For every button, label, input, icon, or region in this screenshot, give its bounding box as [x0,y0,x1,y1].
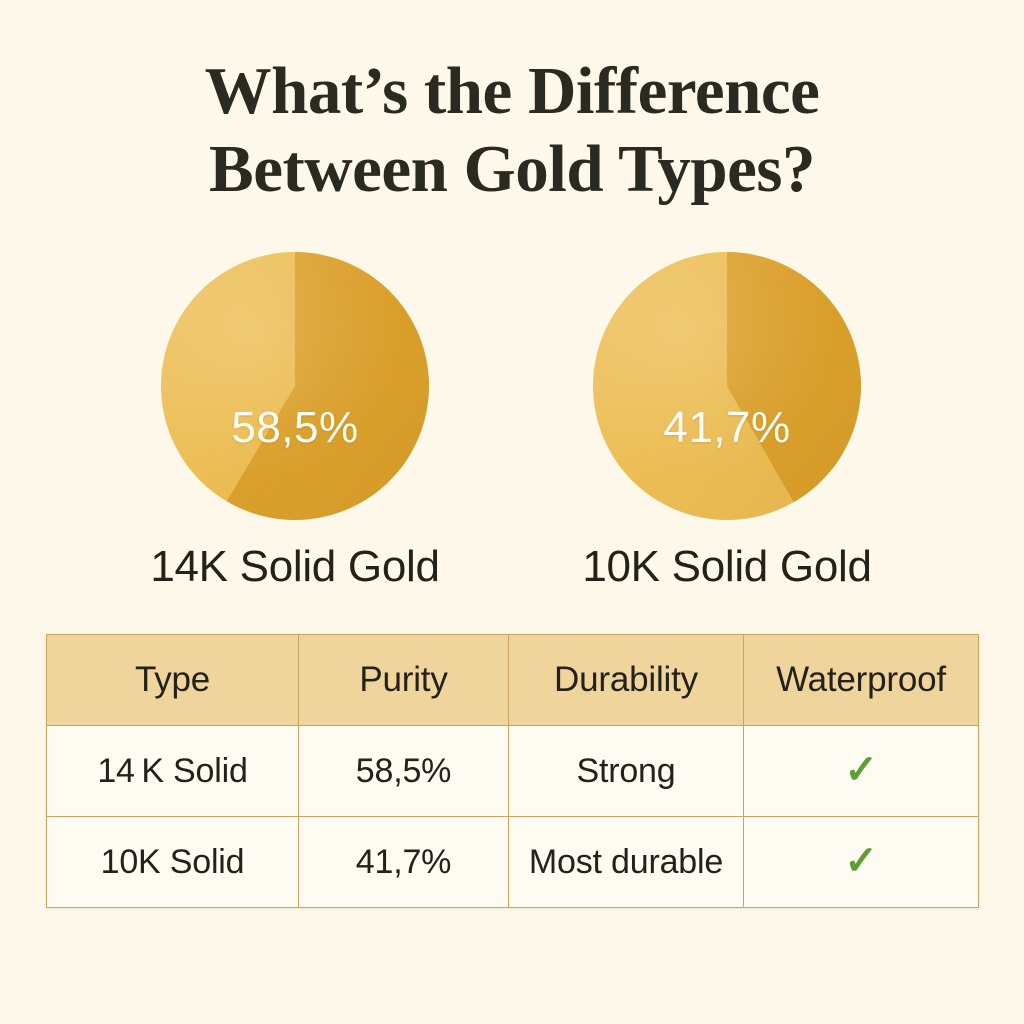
table-row: 10K Solid 41,7% Most durable ✓ [47,817,979,908]
cell-waterproof: ✓ [744,726,979,817]
page-title: What’s the Difference Between Gold Types… [0,52,1024,208]
column-header-purity: Purity [299,635,509,726]
table-header-row: Type Purity Durability Waterproof [47,635,979,726]
column-header-waterproof: Waterproof [744,635,979,726]
pie-chart-group: 58,5% 14K Solid Gold 41,7% 10K Solid Gol… [0,252,1024,592]
column-header-durability: Durability [509,635,744,726]
cell-type: 10K Solid [47,817,299,908]
table-row: 14 K Solid 58,5% Strong ✓ [47,726,979,817]
column-header-type: Type [47,635,299,726]
pie-chart-14k: 58,5% [161,252,429,520]
cell-purity: 41,7% [299,817,509,908]
chart-caption-10k: 10K Solid Gold [512,542,942,592]
cell-waterproof: ✓ [744,817,979,908]
page-title-line-2: Between Gold Types? [0,130,1024,208]
cell-purity: 58,5% [299,726,509,817]
cell-type: 14 K Solid [47,726,299,817]
chart-caption-14k: 14K Solid Gold [80,542,510,592]
chart-unit-14k: 58,5% 14K Solid Gold [80,252,510,592]
pie-slices-14k [161,252,429,520]
check-icon: ✓ [844,841,877,881]
pie-value-label-14k: 58,5% [161,406,429,450]
pie-value-label-10k: 41,7% [593,406,861,450]
cell-durability: Most durable [509,817,744,908]
pie-slices-10k [593,252,861,520]
cell-durability: Strong [509,726,744,817]
check-icon: ✓ [844,750,877,790]
pie-chart-10k: 41,7% [593,252,861,520]
gold-comparison-table: Type Purity Durability Waterproof 14 K S… [46,634,979,908]
chart-unit-10k: 41,7% 10K Solid Gold [512,252,942,592]
page-title-line-1: What’s the Difference [0,52,1024,130]
